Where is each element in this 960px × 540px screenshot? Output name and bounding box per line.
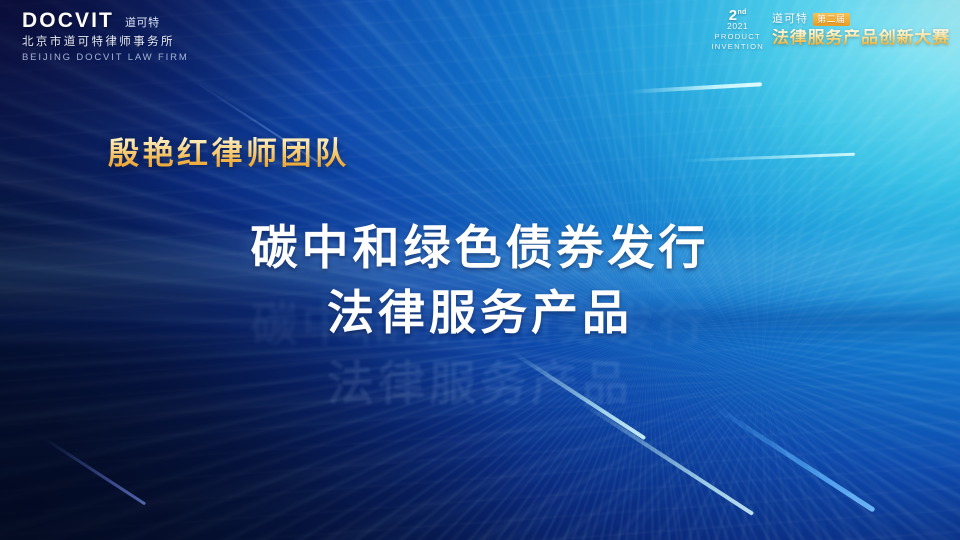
badge-edition-block: 2nd 2021 PRODUCT INVENTION [711,8,764,51]
team-name: 殷艳红律师团队 [108,128,350,173]
firm-logo: DOCVIT 道可特 北京市道可特律师事务所 BEIJING DOCVIT LA… [22,10,189,62]
badge-event-name: 法律服务产品创新大赛 [772,29,950,46]
badge-brand-cn: 道可特 [772,14,808,25]
logo-wordmark-row: DOCVIT 道可特 [22,10,189,31]
event-badge: 2nd 2021 PRODUCT INVENTION 道可特 第二届 法律服务产… [711,8,950,51]
badge-en-line2: INVENTION [711,43,764,51]
logo-wordmark: DOCVIT [22,10,114,31]
badge-ordinal-suffix: nd [737,9,746,16]
firm-name-cn: 北京市道可特律师事务所 [22,37,189,49]
badge-title-block: 道可特 第二届 法律服务产品创新大赛 [772,13,950,46]
title-slide: DOCVIT 道可特 北京市道可特律师事务所 BEIJING DOCVIT LA… [0,0,960,540]
badge-en-line1: PRODUCT [711,33,764,41]
title-line-1: 碳中和绿色债券发行 [0,216,960,281]
badge-session-chip: 第二届 [813,13,850,26]
logo-wordmark-cn: 道可特 [125,18,160,31]
page-title: 碳中和绿色债券发行 法律服务产品 [0,216,960,346]
badge-year: 2021 [711,22,764,31]
firm-name-en: BEIJING DOCVIT LAW FIRM [22,53,189,63]
badge-subtitle-row: 道可特 第二届 [772,13,950,26]
title-line-2: 法律服务产品 [0,281,960,346]
